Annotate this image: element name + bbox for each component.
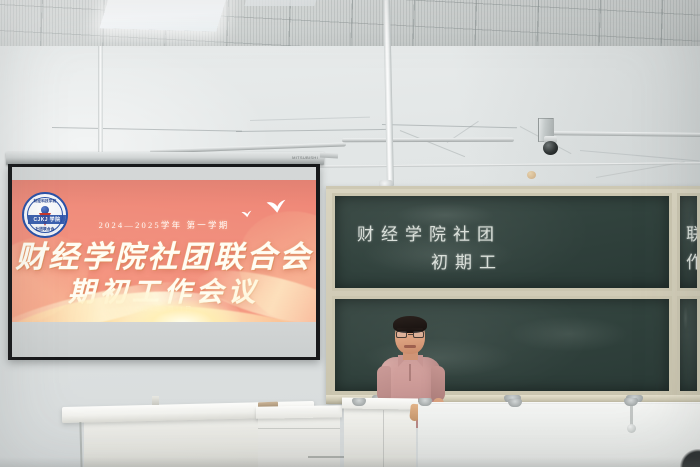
ceiling <box>0 0 700 52</box>
presenter-placket <box>409 364 411 381</box>
floor-shading <box>0 457 700 467</box>
screen-surface: 财经科技学院 CJKJ 学院 社团联合会 20 <box>12 167 316 357</box>
projector-screen: 财经科技学院 CJKJ 学院 社团联合会 20 <box>8 164 320 360</box>
glasses-bridge <box>408 334 413 335</box>
dove-icon <box>266 199 286 214</box>
blackboard-text-line1: 财经学院社团 <box>357 220 501 245</box>
glasses-icon <box>395 331 425 338</box>
podium-seam <box>258 428 340 429</box>
housing-brand-label: MITSUBISHI <box>292 155 318 160</box>
presenter-right-sleeve <box>431 366 445 402</box>
screen-blank-area <box>12 322 316 357</box>
presentation-slide: 财经科技学院 CJKJ 学院 社团联合会 20 <box>12 180 316 328</box>
desk-post <box>152 396 159 405</box>
blackboard-text-line2: 初期工 <box>431 248 503 273</box>
chalk-smudge <box>509 316 629 353</box>
emblem-top-text: 财经科技学院 <box>24 199 66 204</box>
glasses-right-lens <box>413 331 424 338</box>
ceiling-shading <box>0 0 700 52</box>
hanging-weight <box>627 424 636 433</box>
glasses-left-lens <box>396 331 407 338</box>
podium-top <box>256 405 342 419</box>
wall-conduit <box>342 138 514 143</box>
presenter-mouth <box>404 345 416 348</box>
blackboard-panel-right-top: 联合会 作会议 <box>677 193 700 291</box>
hanging-cord <box>630 404 633 426</box>
slide-subtitle: 2024—2025学年 第一学期 <box>12 219 316 231</box>
camera-lens <box>543 141 558 155</box>
chalk-smudge <box>683 306 688 330</box>
blackboard-panel-right-bottom <box>677 296 700 394</box>
dove-icon <box>241 210 252 218</box>
blackboard-text-line1-right: 联合会 <box>686 220 700 245</box>
dome-camera-icon <box>542 136 559 156</box>
presenter-left-sleeve <box>377 366 391 402</box>
blackboard-panel-left-top: 财经学院社团 初期工 <box>332 193 672 291</box>
screen-bracket <box>320 153 338 159</box>
presenter-brow <box>397 328 423 330</box>
vertical-conduit-left <box>98 46 103 156</box>
classroom-scene: MITSUBISHI 财经科技学院 CJKJ 学院 社团联合会 <box>0 0 700 467</box>
blackboard-text-line2-right: 作会议 <box>686 248 700 273</box>
wall-fixture-dot <box>527 171 536 179</box>
